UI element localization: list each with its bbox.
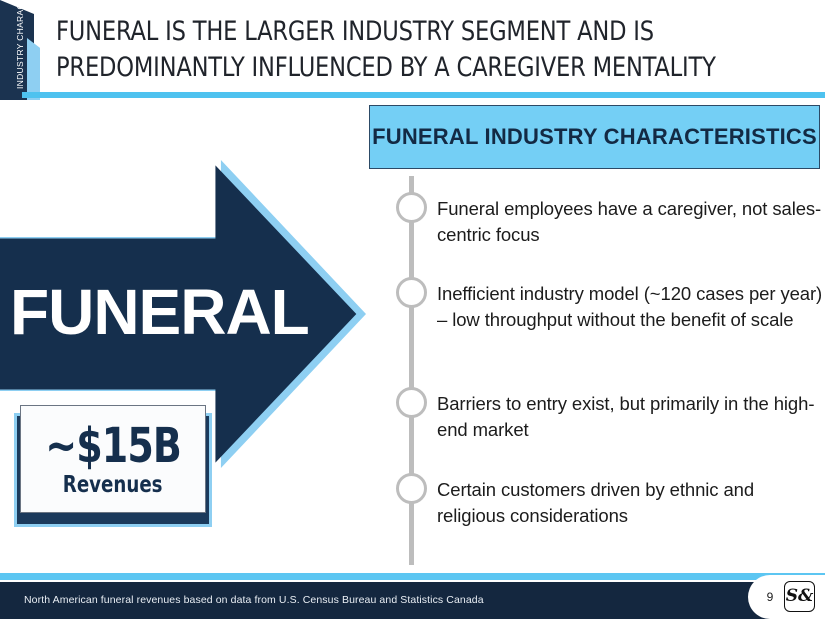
list-item: Inefficient industry model (~120 cases p…	[396, 281, 825, 333]
list-item-label: Inefficient industry model (~120 cases p…	[437, 281, 825, 333]
side-tab-label: INDUSTRY CHARACTERISTICS	[15, 0, 25, 89]
panel-heading-text: FUNERAL INDUSTRY CHARACTERISTICS	[372, 123, 817, 151]
industry-characteristics-tab: INDUSTRY CHARACTERISTICS	[0, 0, 40, 100]
side-tab-blue-shape	[27, 38, 40, 100]
arrow-label: FUNERAL	[10, 276, 340, 348]
list-item-label: Funeral employees have a caregiver, not …	[437, 196, 825, 248]
revenue-callout: ~$15B Revenues	[4, 405, 212, 527]
bullet-circle-icon	[396, 387, 427, 418]
bullet-circle-icon	[396, 192, 427, 223]
panel-heading-box: FUNERAL INDUSTRY CHARACTERISTICS	[369, 105, 820, 169]
footer-accent-bar	[0, 573, 825, 580]
page-title: FUNERAL IS THE LARGER INDUSTRY SEGMENT A…	[56, 14, 755, 86]
header-divider	[22, 92, 825, 98]
list-item: Certain customers driven by ethnic and r…	[396, 477, 825, 529]
list-item-label: Certain customers driven by ethnic and r…	[437, 477, 825, 529]
bullet-circle-icon	[396, 277, 427, 308]
footer-source-note: North American funeral revenues based on…	[24, 593, 484, 607]
brand-logo-icon: S&	[784, 581, 815, 612]
revenue-amount: ~$15B	[45, 421, 181, 471]
page-number: 9	[762, 589, 778, 605]
list-item: Funeral employees have a caregiver, not …	[396, 196, 825, 248]
revenue-caption: Revenues	[63, 472, 163, 498]
list-item: Barriers to entry exist, but primarily i…	[396, 391, 825, 443]
bullet-circle-icon	[396, 473, 427, 504]
list-item-label: Barriers to entry exist, but primarily i…	[437, 391, 825, 443]
revenue-callout-card: ~$15B Revenues	[20, 405, 206, 513]
